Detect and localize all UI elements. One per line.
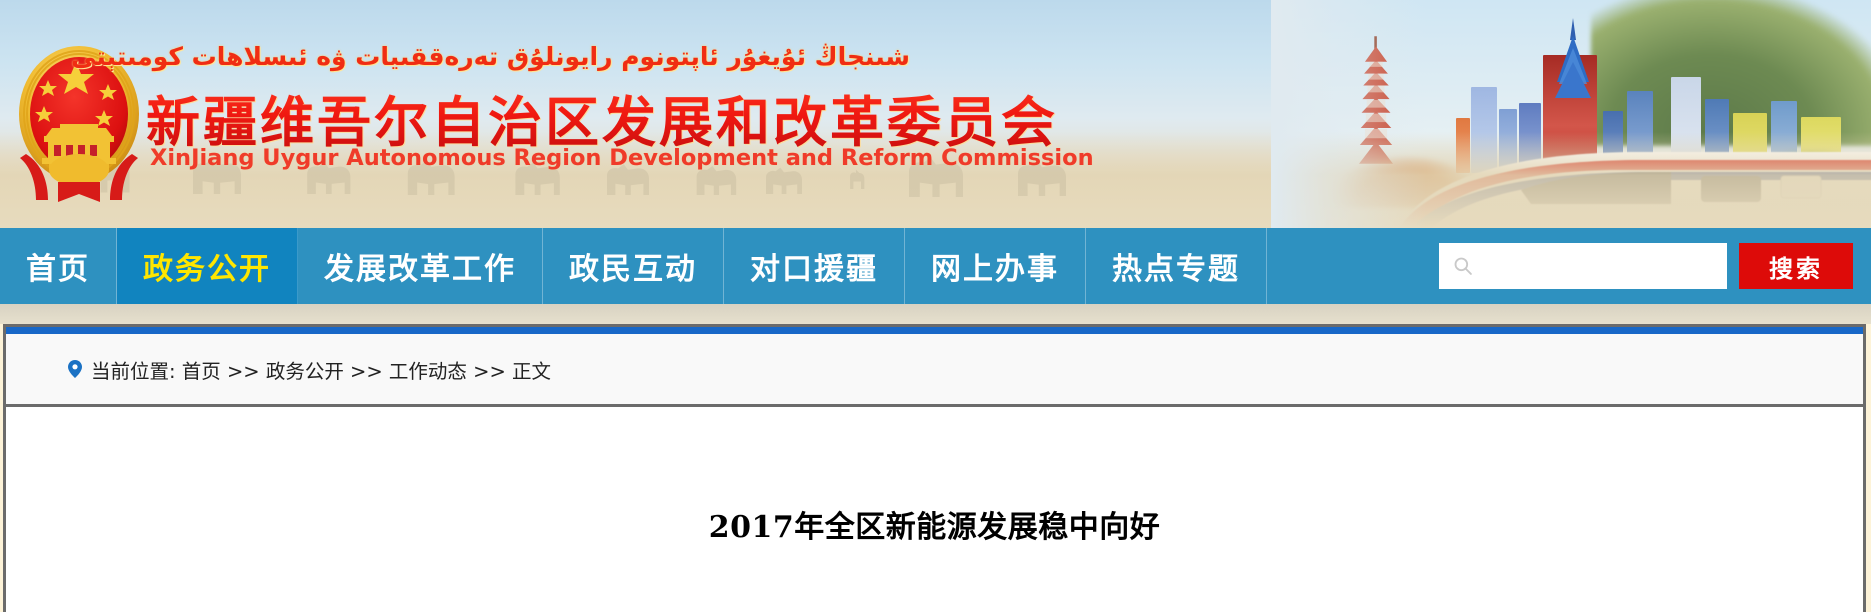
nav-item-label: 热点专题 bbox=[1112, 244, 1240, 288]
search-button[interactable]: 搜索 bbox=[1739, 243, 1853, 289]
nav-item-hot-topics[interactable]: 热点专题 bbox=[1086, 228, 1267, 304]
search-input[interactable] bbox=[1439, 243, 1727, 289]
location-pin-icon bbox=[68, 360, 82, 378]
search-area: 搜索 bbox=[1439, 228, 1871, 304]
nav-item-online-services[interactable]: 网上办事 bbox=[905, 228, 1086, 304]
nav-item-development-reform-work[interactable]: 发展改革工作 bbox=[298, 228, 543, 304]
page-title: 2017年全区新能源发展稳中向好 bbox=[709, 502, 1161, 546]
nav-item-government-affairs[interactable]: 政务公开 bbox=[117, 228, 298, 304]
nav-item-label: 政民互动 bbox=[569, 244, 697, 288]
nav-item-label: 对口援疆 bbox=[750, 244, 878, 288]
search-icon bbox=[1453, 256, 1473, 276]
collage-left-fade bbox=[1271, 0, 1871, 228]
breadcrumb: 当前位置: 首页 >> 政务公开 >> 工作动态 >> 正文 bbox=[6, 334, 1863, 407]
uyghur-site-title: شىنجاڭ ئۇيغۇر ئاپتونوم رايونلۇق تەرەققىي… bbox=[150, 42, 910, 71]
article-body: 2017年全区新能源发展稳中向好 bbox=[6, 407, 1863, 612]
nav-spacer bbox=[1267, 228, 1439, 304]
site-banner: شىنجاڭ ئۇيغۇر ئاپتونوم رايونلۇق تەرەققىي… bbox=[0, 0, 1871, 228]
nav-item-label: 首页 bbox=[26, 244, 90, 288]
main-navigation: 首页 政务公开 发展改革工作 政民互动 对口援疆 网上办事 热点专题 搜索 bbox=[0, 228, 1871, 304]
content-panel: 当前位置: 首页 >> 政务公开 >> 工作动态 >> 正文 2017年全区新能… bbox=[3, 324, 1866, 612]
nav-item-label: 网上办事 bbox=[931, 244, 1059, 288]
nav-item-public-interaction[interactable]: 政民互动 bbox=[543, 228, 724, 304]
nav-item-paired-assistance[interactable]: 对口援疆 bbox=[724, 228, 905, 304]
banner-collage-image bbox=[1271, 0, 1871, 228]
nav-item-home[interactable]: 首页 bbox=[0, 228, 117, 304]
nav-item-label: 发展改革工作 bbox=[324, 244, 516, 288]
nav-item-label: 政务公开 bbox=[143, 244, 271, 288]
search-box[interactable] bbox=[1439, 243, 1727, 289]
english-site-title: XinJiang Uygur Autonomous Region Develop… bbox=[150, 145, 1094, 171]
decorative-beige-strip bbox=[0, 304, 1871, 324]
breadcrumb-text[interactable]: 当前位置: 首页 >> 政务公开 >> 工作动态 >> 正文 bbox=[91, 355, 551, 384]
panel-top-accent-bar bbox=[6, 327, 1863, 334]
